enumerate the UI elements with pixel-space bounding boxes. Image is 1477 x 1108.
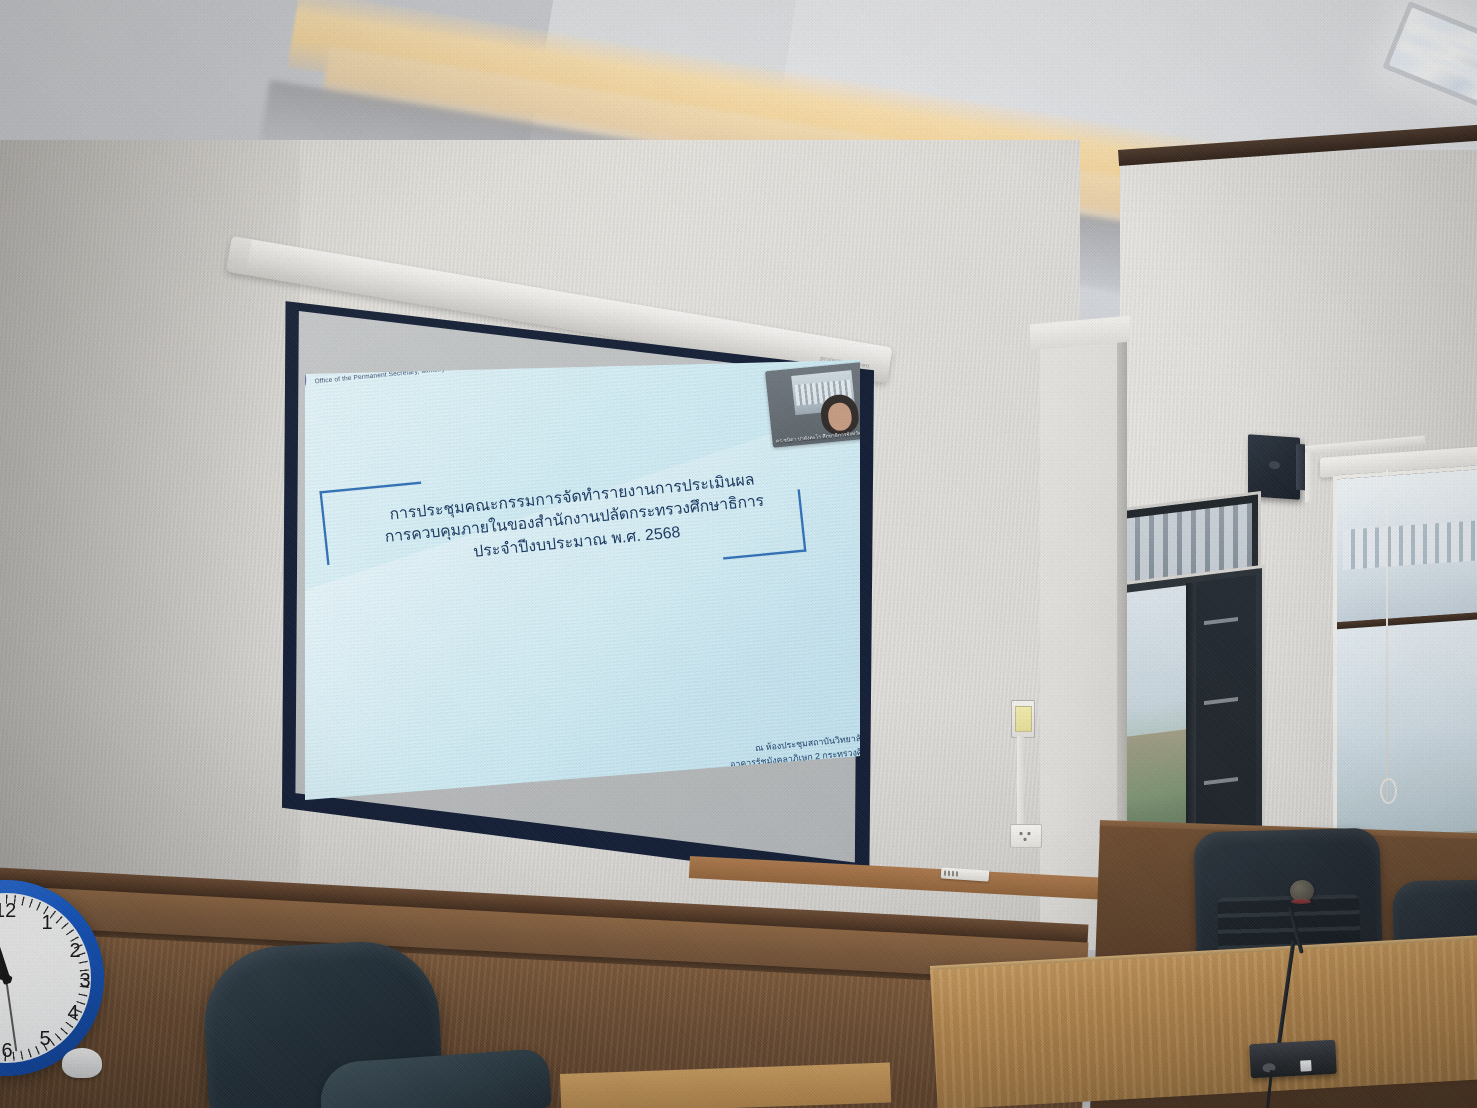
microphone-base[interactable] [1249,1040,1337,1078]
slide-title-lines: การประชุมคณะกรรมการจัดทำรายงานการประเมิน… [305,453,844,582]
power-outlet[interactable] [1010,824,1042,848]
presentation-slide[interactable]: สำนักงานปลัดกระทรวงศึกษาธิการ Office of … [305,360,860,800]
clock-numeral-12: 12 [0,900,16,923]
clock-numeral-1: 1 [36,912,58,935]
clock-numeral-3: 3 [74,970,96,993]
clock-numeral-2: 2 [64,940,86,963]
light-switch-rocker[interactable] [1015,706,1032,732]
clock-numeral-5: 5 [34,1028,56,1051]
speaker-bracket [1296,444,1305,491]
remote-buttons [944,871,958,877]
wall-conduit-vertical [1305,452,1314,503]
door-frosted-stripe [1204,777,1238,785]
clock-mount-knob [62,1048,102,1078]
clock-center-cap [2,974,11,983]
clock-numeral-4: 4 [62,1002,84,1025]
microphone-indicator [1300,1060,1312,1072]
light-switch[interactable] [1011,700,1035,738]
meeting-room-photo: projector-screen สำนักงานปลัดกระทรวงศึกษ… [0,0,1477,1108]
switch-conduit [1017,736,1024,826]
outlet-sockets [1018,830,1032,842]
door-frosted-stripe [1204,617,1238,625]
window-pane-upper [1337,469,1477,622]
slide-title-block: การประชุมคณะกรรมการจัดทำรายงานการประเมิน… [305,453,844,582]
blind-pull-cord[interactable] [1386,470,1388,800]
video-participant-tile[interactable]: ดร.ชนิดา ปาตังคะโร ศึกษาธิการจังหวัดนครป… [765,361,860,447]
door-frosted-stripe [1204,697,1238,705]
blind-cord-loop[interactable] [1380,778,1397,804]
microphone-ring [1291,899,1311,904]
projected-slide-area[interactable]: สำนักงานปลัดกระทรวงศึกษาธิการ Office of … [305,360,860,800]
